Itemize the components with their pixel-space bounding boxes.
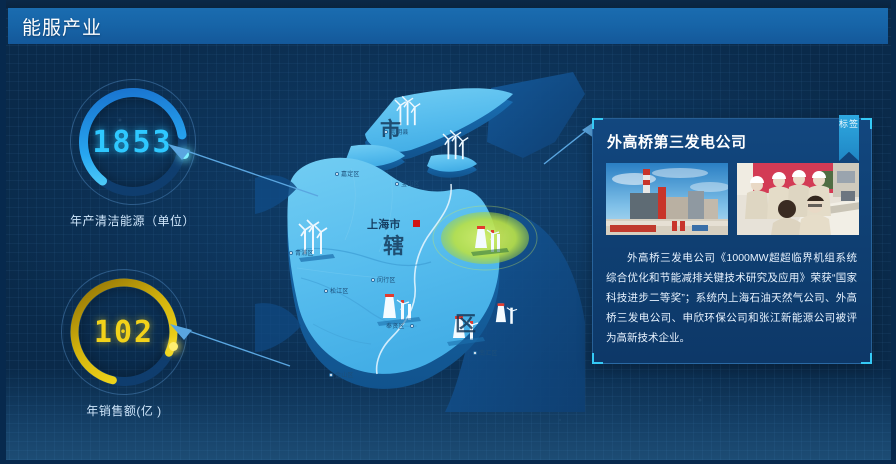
- shanghai-map[interactable]: 市 辖 区 上海市 崇明县 宝山区 嘉定区 青浦区 松江区 闵行区 奉贤区 金山…: [255, 72, 585, 412]
- district-dot: [289, 251, 293, 255]
- district-label-fengxian: 奉贤区: [386, 321, 405, 330]
- map-icon-layer: [255, 72, 585, 412]
- power-plant-photo-art: [606, 163, 728, 235]
- control-room-photo[interactable]: [737, 163, 859, 235]
- panel-title: 外高桥第三发电公司: [607, 131, 871, 152]
- map-city-label: 上海市: [367, 216, 401, 232]
- control-room-photo-art: [737, 163, 859, 235]
- map-watermark-xia: 辖: [383, 230, 406, 260]
- district-dot: [324, 289, 328, 293]
- district-dot: [335, 172, 339, 176]
- district-dot: [371, 278, 375, 282]
- district-dot: [329, 373, 333, 377]
- panel-corner-tl-icon: [592, 118, 603, 129]
- top-strip: [0, 0, 896, 8]
- info-panel[interactable]: 标签 外高桥第三发电公司: [592, 118, 872, 364]
- power-plant-icon: [471, 226, 509, 256]
- wind-turbine-icon: [443, 130, 468, 159]
- panel-photo-row: [606, 163, 859, 235]
- gauge-annual-sales[interactable]: 102 年销售额(亿 ): [70, 278, 178, 419]
- district-label-jiading: 嘉定区: [341, 169, 360, 178]
- panel-ribbon-tag[interactable]: 标签: [839, 115, 859, 161]
- page-title: 能服产业: [22, 13, 102, 40]
- district-dot: [410, 324, 414, 328]
- district-label-jinshan: 金山区: [335, 370, 354, 379]
- gauge-knob: [180, 150, 189, 159]
- gauge-knob: [169, 342, 178, 351]
- district-label-qingpu: 青浦区: [295, 248, 314, 257]
- gauge-label: 年销售额(亿 ): [70, 402, 178, 419]
- gauge-label: 年产清洁能源（单位）: [70, 212, 195, 229]
- panel-corner-tr-icon: [861, 118, 872, 129]
- district-label-nanhui: 南汇区: [479, 348, 498, 357]
- map-watermark-qu: 区: [455, 308, 478, 338]
- panel-body-text: 外高桥三发电公司《1000MW超超临界机组系统综合优化和节能减排关键技术研究及应…: [606, 248, 857, 348]
- gauge-dial: 102: [70, 278, 178, 386]
- page-header: 能服产业: [8, 8, 888, 44]
- power-plant-photo[interactable]: [606, 163, 728, 235]
- dashboard-stage: 能服产业: [0, 0, 896, 464]
- gauge-clean-energy[interactable]: 1853 年产清洁能源（单位）: [70, 88, 195, 229]
- district-label-songjiang: 松江区: [330, 286, 349, 295]
- district-label-minhang: 闵行区: [377, 275, 396, 284]
- gauge-value: 102: [70, 278, 178, 386]
- gauge-value: 1853: [79, 88, 187, 196]
- panel-corner-br-icon: [861, 353, 872, 364]
- panel-corner-bl-icon: [592, 353, 603, 364]
- district-dot: [473, 351, 477, 355]
- district-dot: [395, 182, 399, 186]
- district-label-baoshan: 宝山区: [401, 179, 420, 188]
- district-dot: [384, 130, 388, 134]
- gauge-dial: 1853: [79, 88, 187, 196]
- district-label-chongming: 崇明县: [390, 127, 409, 136]
- map-city-marker: [413, 220, 420, 227]
- power-plant-icon: [496, 303, 517, 323]
